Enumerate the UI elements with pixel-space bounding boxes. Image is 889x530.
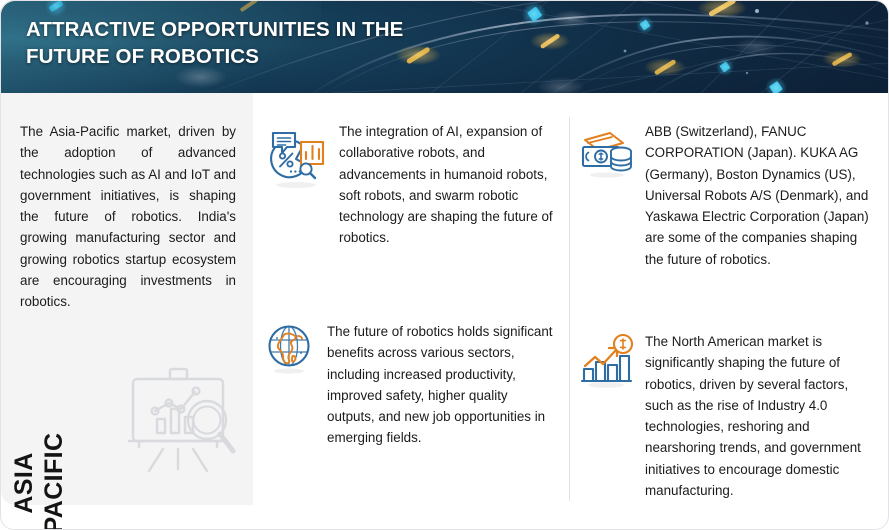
growth-barchart-dollar-icon [579, 333, 637, 391]
block-robotics-benefits: The future of robotics holds significant… [263, 321, 563, 449]
asia-pacific-panel: The Asia-Pacific market, driven by the a… [1, 93, 253, 505]
globe-icon [263, 322, 315, 374]
block-companies-text: ABB (Switzerland), FANUC CORPORATION (Ja… [645, 121, 873, 270]
document-percent-barchart-icon [263, 123, 329, 189]
column-divider [569, 117, 570, 501]
infographic-card: ATTRACTIVE OPPORTUNITIES IN THE FUTURE O… [0, 0, 889, 530]
block-ai-integration: The integration of AI, expansion of coll… [263, 121, 563, 249]
asia-pacific-body-text: The Asia-Pacific market, driven by the a… [20, 121, 236, 313]
presentation-chart-magnifier-icon [119, 365, 243, 477]
money-cash-coins-icon [579, 123, 635, 179]
block-key-companies: ABB (Switzerland), FANUC CORPORATION (Ja… [579, 121, 879, 270]
page-title: ATTRACTIVE OPPORTUNITIES IN THE FUTURE O… [26, 16, 456, 70]
region-label-asia-pacific: ASIA PACIFIC [9, 418, 69, 530]
block-benefits-text: The future of robotics holds significant… [327, 321, 557, 449]
header-banner: ATTRACTIVE OPPORTUNITIES IN THE FUTURE O… [1, 1, 889, 93]
block-ai-text: The integration of AI, expansion of coll… [339, 121, 563, 249]
block-north-america-text: The North American market is significant… [645, 331, 875, 501]
block-north-america: The North American market is significant… [579, 331, 879, 501]
